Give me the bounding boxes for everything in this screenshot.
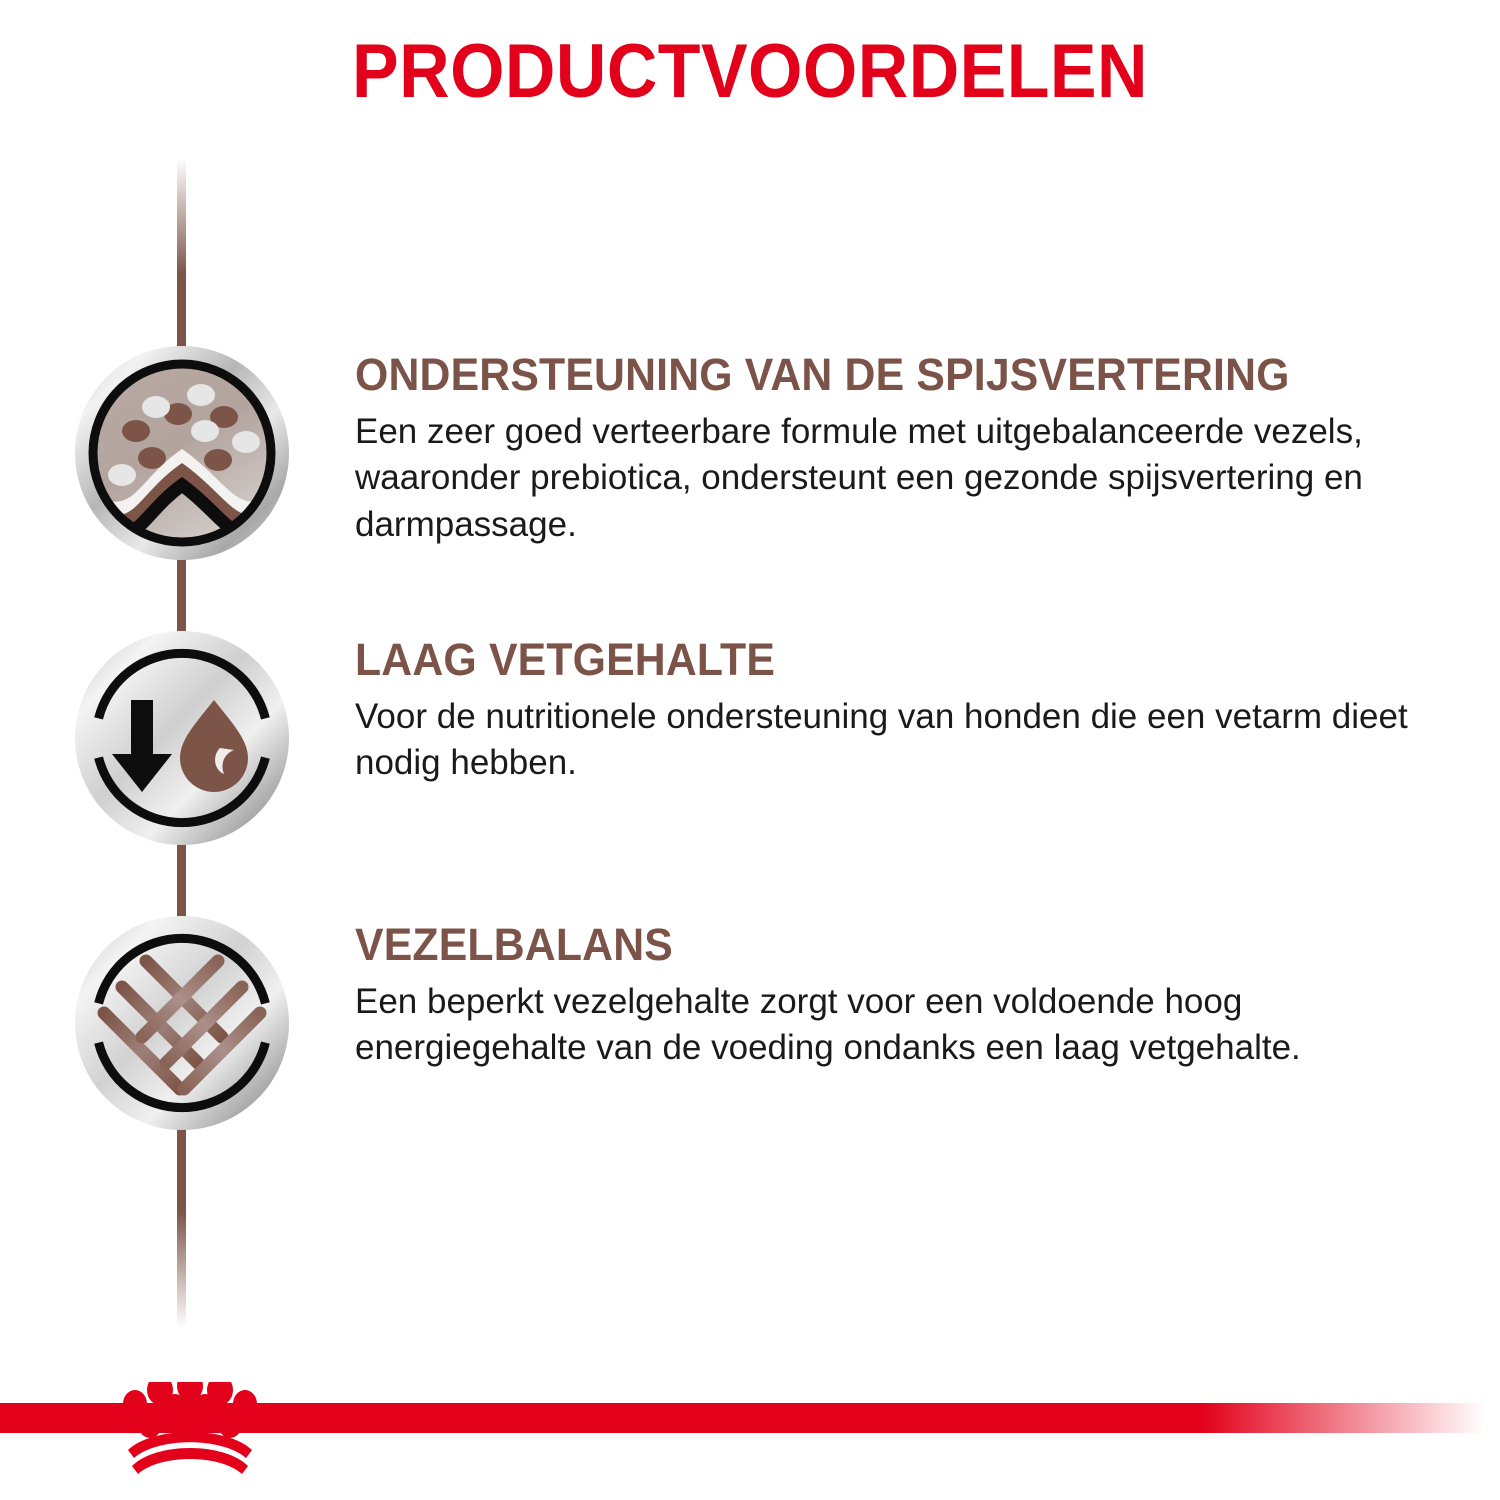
benefit-body: Een zeer goed verteerbare formule met ui… [355, 409, 1445, 549]
page-title: PRODUCTVOORDELEN [60, 34, 1440, 110]
benefit-heading: ONDERSTEUNING VAN DE SPIJSVERTERING [355, 351, 1410, 399]
benefit-text-block: VEZELBALANS Een beperkt vezelgehalte zor… [355, 921, 1465, 1072]
benefit-body: Voor de nutritionele ondersteuning van h… [355, 694, 1465, 787]
benefit-text-block: LAAG VETGEHALTE Voor de nutritionele ond… [355, 636, 1465, 787]
benefit-heading: LAAG VETGEHALTE [355, 636, 1410, 684]
fiber-crosshatch-mesh-icon [74, 915, 290, 1131]
royal-canin-crown-logo [108, 1382, 272, 1478]
benefit-text-block: ONDERSTEUNING VAN DE SPIJSVERTERING Een … [355, 351, 1465, 548]
digestive-wave-dots-icon [74, 345, 290, 561]
benefit-heading: VEZELBALANS [355, 921, 1410, 969]
product-benefits-page: PRODUCTVOORDELEN [0, 0, 1500, 1500]
low-fat-down-arrow-droplet-icon [74, 630, 290, 846]
benefit-body: Een beperkt vezelgehalte zorgt voor een … [355, 979, 1440, 1072]
